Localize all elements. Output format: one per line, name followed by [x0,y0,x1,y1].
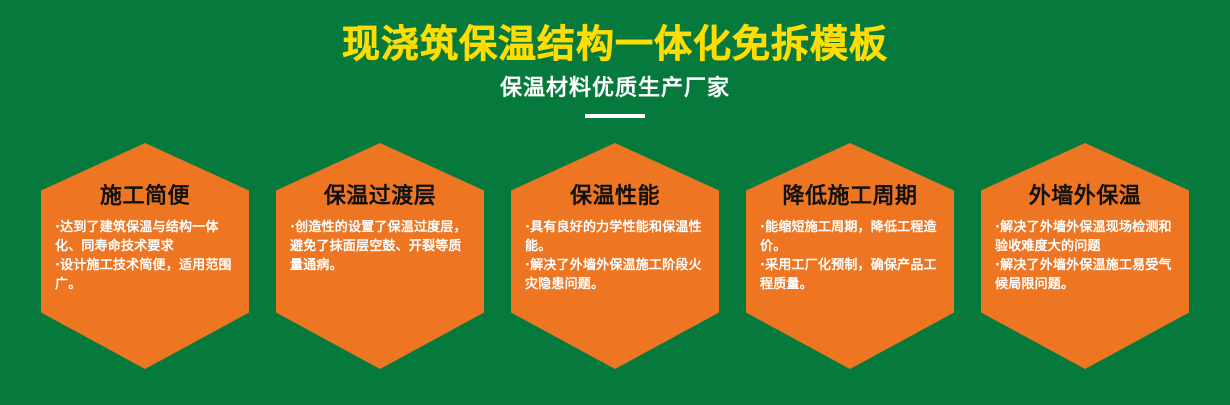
feature-bullet: ·解决了外墙外保温现场检测和验收难度大的问题 [995,218,1175,256]
promo-banner: 现浇筑保温结构一体化免拆模板 保温材料优质生产厂家 施工简便 ·达到了建筑保温与… [0,0,1230,405]
feature-bullet: ·解决了外墙外保温施工易受气候局限问题。 [995,256,1175,294]
feature-bullet: ·达到了建筑保温与结构一体化、同寿命技术要求 [55,218,235,256]
feature-bullet: ·解决了外墙外保温施工阶段火灾隐患问题。 [525,256,705,294]
feature-body: ·创造性的设置了保温过度层，避免了抹面层空鼓、开裂等质量通病。 [290,211,470,275]
feature-title: 降低施工周期 [760,143,940,211]
feature-title: 施工简便 [55,143,235,211]
feature-body: ·达到了建筑保温与结构一体化、同寿命技术要求 ·设计施工技术简便，适用范围广。 [55,211,235,294]
feature-hexagon-1[interactable]: 施工简便 ·达到了建筑保温与结构一体化、同寿命技术要求 ·设计施工技术简便，适用… [41,143,249,369]
feature-bullet: ·设计施工技术简便，适用范围广。 [55,256,235,294]
feature-hexagon-row: 施工简便 ·达到了建筑保温与结构一体化、同寿命技术要求 ·设计施工技术简便，适用… [0,143,1230,371]
feature-bullet: ·采用工厂化预制，确保产品工程质量。 [760,256,940,294]
feature-bullet: ·具有良好的力学性能和保温性能。 [525,218,705,256]
feature-body: ·能缩短施工周期，降低工程造价。 ·采用工厂化预制，确保产品工程质量。 [760,211,940,294]
feature-title: 外墙外保温 [995,143,1175,211]
page-title: 现浇筑保温结构一体化免拆模板 [0,0,1230,66]
feature-hexagon-2[interactable]: 保温过渡层 ·创造性的设置了保温过度层，避免了抹面层空鼓、开裂等质量通病。 [276,143,484,369]
feature-hexagon-3[interactable]: 保温性能 ·具有良好的力学性能和保温性能。 ·解决了外墙外保温施工阶段火灾隐患问… [511,143,719,369]
page-subtitle: 保温材料优质生产厂家 [0,66,1230,103]
feature-title: 保温过渡层 [290,143,470,211]
feature-bullet: ·创造性的设置了保温过度层，避免了抹面层空鼓、开裂等质量通病。 [290,218,470,275]
feature-bullet: ·能缩短施工周期，降低工程造价。 [760,218,940,256]
feature-body: ·解决了外墙外保温现场检测和验收难度大的问题 ·解决了外墙外保温施工易受气候局限… [995,211,1175,294]
title-divider [585,114,645,118]
feature-hexagon-4[interactable]: 降低施工周期 ·能缩短施工周期，降低工程造价。 ·采用工厂化预制，确保产品工程质… [746,143,954,369]
feature-title: 保温性能 [525,143,705,211]
banner-header: 现浇筑保温结构一体化免拆模板 保温材料优质生产厂家 [0,0,1230,118]
feature-body: ·具有良好的力学性能和保温性能。 ·解决了外墙外保温施工阶段火灾隐患问题。 [525,211,705,294]
feature-hexagon-5[interactable]: 外墙外保温 ·解决了外墙外保温现场检测和验收难度大的问题 ·解决了外墙外保温施工… [981,143,1189,369]
